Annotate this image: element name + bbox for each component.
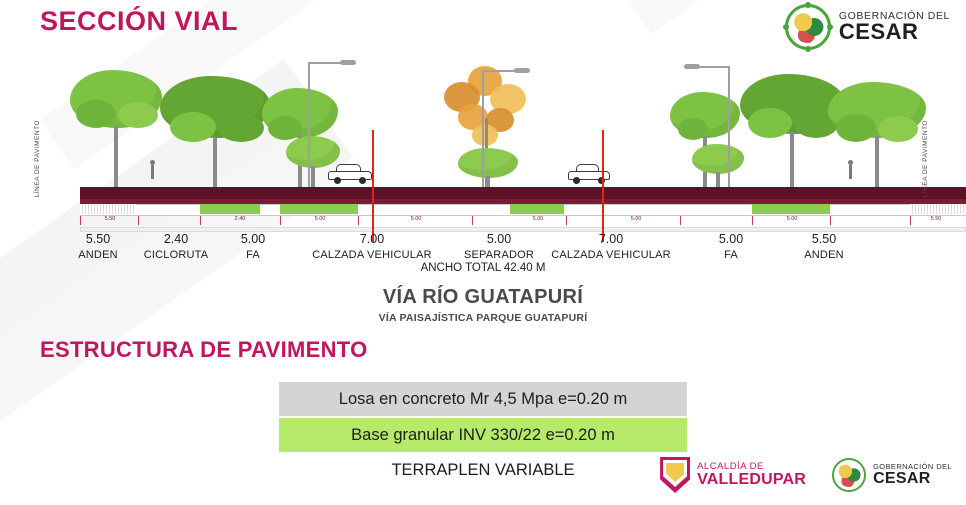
edge-label-right: LÍNEA DE PAVIMENTO bbox=[922, 120, 929, 197]
pedestrian-icon bbox=[148, 160, 156, 186]
dimension-name: FA bbox=[719, 249, 743, 261]
dimension-value: 5.00 bbox=[464, 232, 534, 246]
alcaldia-logo: ALCALDÍA DE VALLEDUPAR bbox=[660, 457, 806, 493]
green-band-segment bbox=[752, 204, 830, 214]
inner-dim-label: 5.00 bbox=[787, 216, 798, 222]
dimension-name: SEPARADOR bbox=[464, 249, 534, 261]
green-band-segment bbox=[510, 204, 564, 214]
pavement-layer-granular: Base granular INV 330/22 e=0.20 m bbox=[279, 416, 687, 452]
footer-logos: ALCALDÍA DE VALLEDUPAR GOBERNACIÓN DEL C… bbox=[660, 457, 952, 493]
valledupar-shield-icon bbox=[660, 457, 690, 493]
dimension-value: 5.50 bbox=[78, 232, 118, 246]
axis-line-right bbox=[602, 130, 604, 242]
dimension-fa-left: 5.00 FA bbox=[241, 232, 265, 261]
gobernacion-logo-line2: CESAR bbox=[839, 21, 950, 43]
hatched-band-segment bbox=[80, 204, 136, 214]
road-section-drawing: 5.50 2.40 5.00 5.00 5.00 5.00 5.00 5.50 … bbox=[0, 52, 966, 237]
dimension-value: 2.40 bbox=[144, 232, 209, 246]
via-title: VÍA RÍO GUATAPURÍ bbox=[0, 286, 966, 309]
inner-dim-label: 5.50 bbox=[931, 216, 942, 222]
pavement-section-title: ESTRUCTURA DE PAVIMENTO bbox=[40, 337, 368, 363]
inner-dim-label: 5.50 bbox=[105, 216, 116, 222]
dimension-separador: 5.00 SEPARADOR bbox=[464, 232, 534, 261]
edge-label-left: LÍNEA DE PAVIMENTO bbox=[34, 120, 41, 197]
dimension-name: CALZADA VEHICULAR bbox=[551, 249, 671, 261]
car-icon bbox=[328, 156, 372, 184]
dimension-name: CICLORUTA bbox=[144, 249, 209, 261]
street-lamp-icon bbox=[482, 70, 528, 190]
inner-dimension-row: 5.50 2.40 5.00 5.00 5.00 5.00 5.00 5.50 bbox=[80, 216, 966, 227]
alcaldia-logo-line2: VALLEDUPAR bbox=[697, 472, 806, 489]
inner-dim-label: 5.00 bbox=[315, 216, 326, 222]
pavement-layers: Losa en concreto Mr 4,5 Mpa e=0.20 m Bas… bbox=[279, 382, 687, 480]
inner-dim-label: 2.40 bbox=[235, 216, 246, 222]
cesar-seal-icon bbox=[785, 4, 831, 50]
cesar-seal-icon bbox=[832, 458, 866, 492]
pavement-footer-note: TERRAPLEN VARIABLE bbox=[279, 461, 687, 480]
green-band-segment bbox=[200, 204, 260, 214]
pavement-layer-concrete: Losa en concreto Mr 4,5 Mpa e=0.20 m bbox=[279, 382, 687, 416]
drawing-canvas: 5.50 2.40 5.00 5.00 5.00 5.00 5.00 5.50 … bbox=[40, 52, 926, 237]
dimension-calzada-left: 7.00 CALZADA VEHICULAR bbox=[312, 232, 432, 261]
via-title-block: VÍA RÍO GUATAPURÍ VÍA PAISAJÍSTICA PARQU… bbox=[0, 286, 966, 324]
gobernacion-logo: GOBERNACIÓN DEL CESAR bbox=[785, 4, 950, 50]
dimension-value: 7.00 bbox=[551, 232, 671, 246]
axis-line-left bbox=[372, 130, 374, 242]
gobernacion-footer-line2: CESAR bbox=[873, 471, 952, 487]
inner-dim-label: 5.00 bbox=[533, 216, 544, 222]
hatched-band-segment bbox=[910, 204, 966, 214]
dimension-name: ANDEN bbox=[804, 249, 844, 261]
dimension-labels: 5.50 ANDEN 2.40 CICLORUTA 5.00 FA 7.00 C… bbox=[0, 232, 966, 282]
dimension-value: 5.00 bbox=[241, 232, 265, 246]
dimension-name: ANDEN bbox=[78, 249, 118, 261]
road-body bbox=[80, 187, 966, 204]
page-header: SECCIÓN VIAL SECCIÓN VIAL GOBERNACIÓN DE… bbox=[0, 0, 966, 52]
dimension-name: FA bbox=[241, 249, 265, 261]
dimension-name: CALZADA VEHICULAR bbox=[312, 249, 432, 261]
tree-row bbox=[40, 52, 926, 192]
inner-dim-label: 5.00 bbox=[411, 216, 422, 222]
pavement-bands: 5.50 2.40 5.00 5.00 5.00 5.00 5.00 5.50 bbox=[80, 187, 966, 237]
dimension-value: 5.00 bbox=[719, 232, 743, 246]
green-band-segment bbox=[280, 204, 358, 214]
page-title: SECCIÓN VIAL bbox=[40, 6, 238, 37]
tree-icon bbox=[160, 76, 270, 190]
street-lamp-icon bbox=[684, 66, 730, 190]
dimension-value: 5.50 bbox=[804, 232, 844, 246]
inner-dim-label: 5.00 bbox=[631, 216, 642, 222]
pedestrian-icon bbox=[846, 160, 854, 186]
dimension-fa-right: 5.00 FA bbox=[719, 232, 743, 261]
gobernacion-footer-logo: GOBERNACIÓN DEL CESAR bbox=[832, 458, 952, 492]
dimension-value: 7.00 bbox=[312, 232, 432, 246]
dimension-anden-left: 5.50 ANDEN bbox=[78, 232, 118, 261]
dimension-cicloruta: 2.40 CICLORUTA bbox=[144, 232, 209, 261]
dimension-anden-right: 5.50 ANDEN bbox=[804, 232, 844, 261]
via-subtitle: VÍA PAISAJÍSTICA PARQUE GUATAPURÍ bbox=[0, 312, 966, 324]
tree-icon bbox=[828, 82, 926, 192]
dimension-calzada-right: 7.00 CALZADA VEHICULAR bbox=[551, 232, 671, 261]
total-width-label: ANCHO TOTAL 42.40 M bbox=[0, 262, 966, 274]
